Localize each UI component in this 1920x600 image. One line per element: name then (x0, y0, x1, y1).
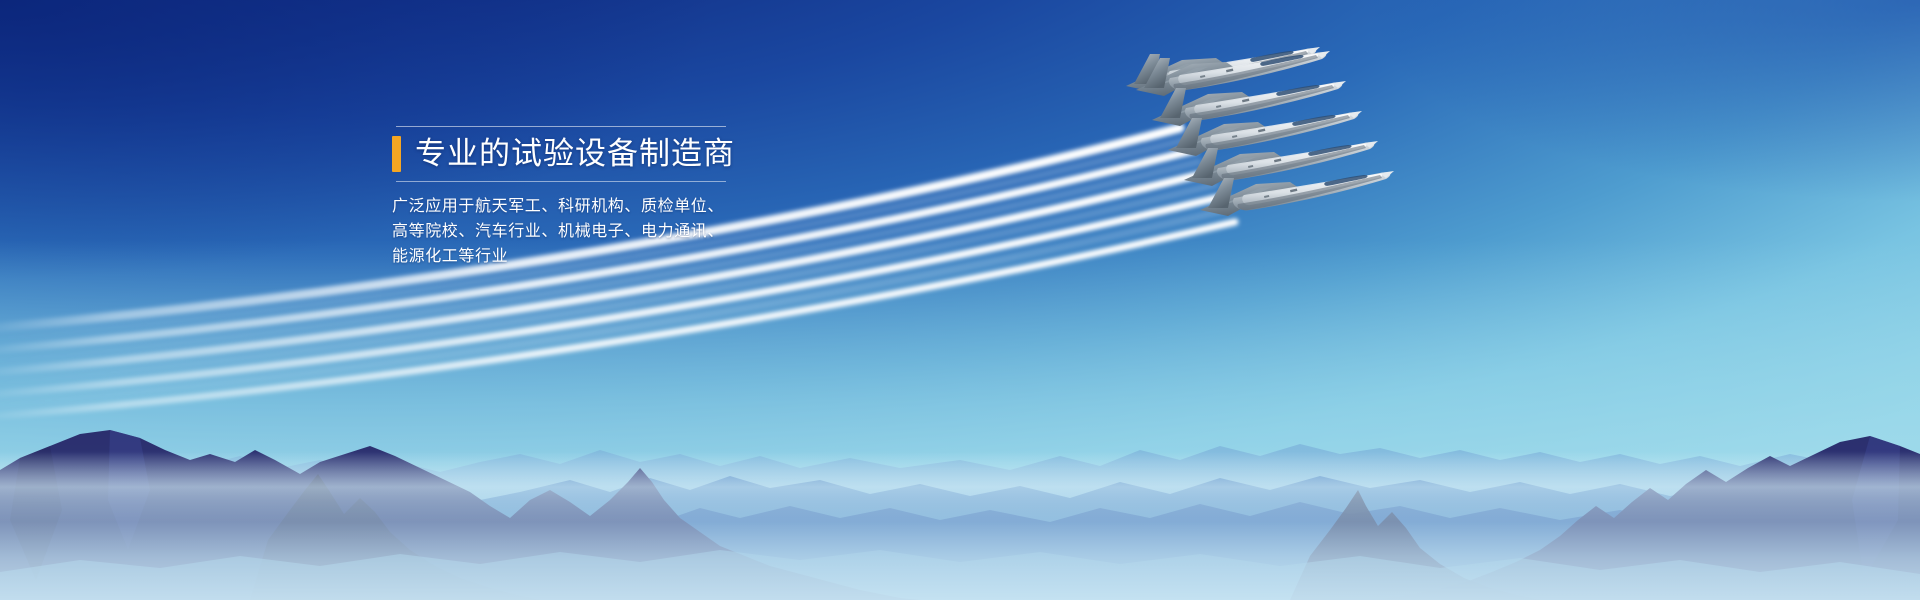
hero-banner: 专业的试验设备制造商 广泛应用于航天军工、科研机构、质检单位、 高等院校、汽车行… (0, 0, 1920, 600)
subtitle-line-1: 广泛应用于航天军工、科研机构、质检单位、 (392, 194, 732, 219)
accent-bar (392, 136, 401, 172)
subtitle-line-2: 高等院校、汽车行业、机械电子、电力通讯、 (392, 219, 732, 244)
divider-top (396, 126, 726, 127)
banner-subtitle: 广泛应用于航天军工、科研机构、质检单位、 高等院校、汽车行业、机械电子、电力通讯… (392, 194, 732, 269)
headline-row: 专业的试验设备制造商 (392, 136, 732, 172)
mountain-range-silhouette (0, 350, 1920, 600)
subtitle-line-3: 能源化工等行业 (392, 244, 732, 269)
page-title: 专业的试验设备制造商 (415, 137, 735, 171)
divider-bottom (396, 181, 726, 182)
fighter-jet-formation (1120, 40, 1520, 270)
banner-text-block: 专业的试验设备制造商 广泛应用于航天军工、科研机构、质检单位、 高等院校、汽车行… (392, 126, 732, 269)
